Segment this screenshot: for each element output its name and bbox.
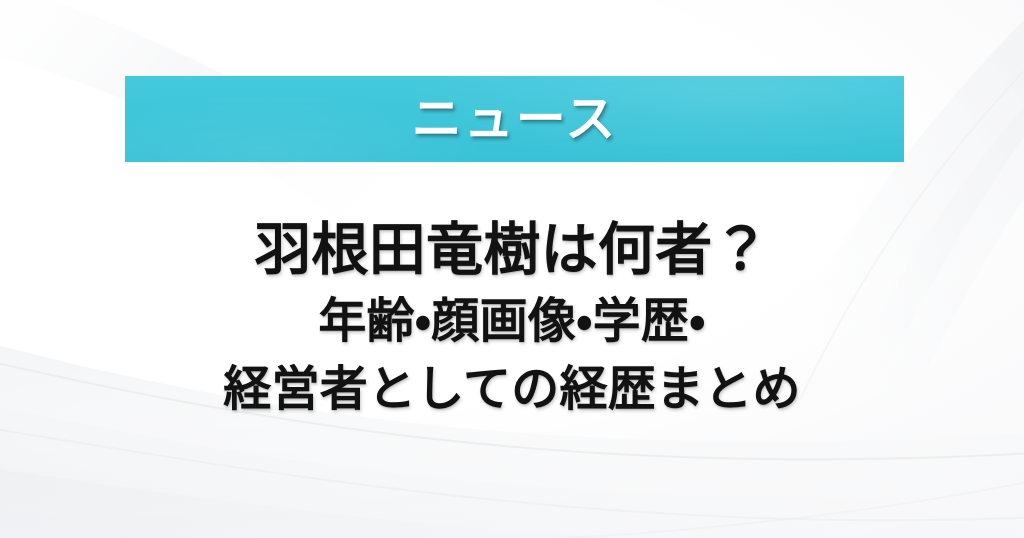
thumbnail-canvas: ニュース 羽根田竜樹は何者？ 年齢・顔画像・学歴・ 経営者としての経歴まとめ (0, 0, 1024, 538)
headline-line-2: 年齢・顔画像・学歴・ (0, 298, 1024, 346)
headline-block: 羽根田竜樹は何者？ 年齢・顔画像・学歴・ 経営者としての経歴まとめ (0, 222, 1024, 414)
category-badge-bar: ニュース (125, 76, 904, 162)
headline-line-1: 羽根田竜樹は何者？ (0, 222, 1024, 279)
category-badge-label: ニュース (412, 94, 618, 144)
headline-line-3: 経営者としての経歴まとめ (0, 366, 1024, 414)
